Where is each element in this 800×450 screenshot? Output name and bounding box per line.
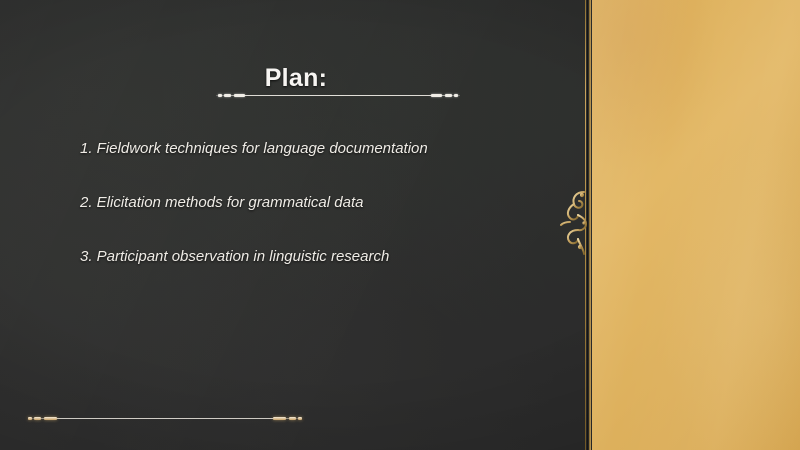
list-item: 2. Elicitation methods for grammatical d…: [80, 194, 550, 213]
slide-canvas: Plan: 1. Fieldwork techniques for langua…: [0, 0, 800, 450]
divider-line: [28, 418, 302, 419]
footer-divider: [28, 412, 302, 426]
divider-left-accent: [218, 92, 248, 99]
title-divider: [216, 89, 460, 103]
filigree-scroll-ornament: [560, 186, 594, 256]
divider-right-accent: [270, 415, 302, 422]
divider-right-accent: [428, 92, 458, 99]
divider-line: [216, 95, 460, 96]
gold-side-panel: [592, 0, 800, 450]
list-item: 1. Fieldwork techniques for language doc…: [80, 140, 550, 159]
list-item: 3. Participant observation in linguistic…: [80, 248, 550, 267]
divider-left-accent: [28, 415, 60, 422]
panel-sheen: [592, 0, 800, 450]
agenda-list: 1. Fieldwork techniques for language doc…: [80, 140, 550, 266]
